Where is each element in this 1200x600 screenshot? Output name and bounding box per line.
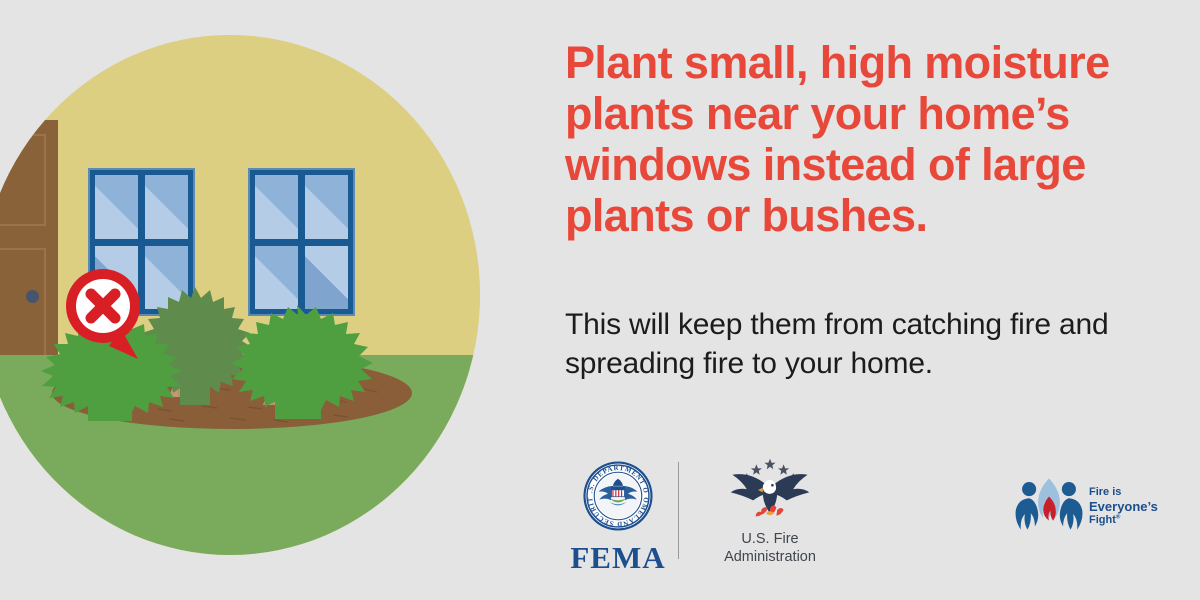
bush-right [215, 303, 380, 419]
door-panel-top [0, 134, 46, 226]
usfa-eagle-icon [705, 457, 835, 528]
feef-line-3-text: Fight [1089, 514, 1116, 526]
window-pane [305, 175, 348, 239]
logo-divider [678, 462, 679, 559]
window-pane [255, 246, 298, 310]
logo-row: U.S. DEPARTMENT OF HOMELAND SECURITY [565, 455, 1185, 575]
usfa-line-1: U.S. Fire [705, 530, 835, 548]
headline: Plant small, high moisture plants near y… [565, 38, 1165, 241]
window-pane [95, 175, 138, 239]
subheadline: This will keep them from catching fire a… [565, 305, 1165, 383]
usfa-line-2: Administration [705, 548, 835, 566]
window-pane [305, 246, 348, 310]
window-pane [145, 175, 188, 239]
feef-line-2: Everyone’s [1089, 499, 1158, 514]
two-figures-flame-icon [1013, 475, 1085, 538]
fema-logo: U.S. DEPARTMENT OF HOMELAND SECURITY [553, 460, 683, 576]
fire-is-everyones-fight-logo: Fire is Everyone’s Fight® [1013, 475, 1163, 538]
feef-line-1: Fire is [1089, 486, 1158, 499]
red-x-warning-marker [64, 267, 152, 365]
usfa-wordmark: U.S. Fire Administration [705, 530, 835, 566]
window-pane [255, 175, 298, 239]
door-knob [26, 290, 39, 303]
window-right-panes [255, 175, 348, 309]
feef-line-3: Fight® [1089, 514, 1158, 527]
feef-wordmark: Fire is Everyone’s Fight® [1089, 486, 1158, 527]
dhs-seal-icon: U.S. DEPARTMENT OF HOMELAND SECURITY [553, 460, 683, 537]
content-column: Plant small, high moisture plants near y… [565, 0, 1185, 600]
usfa-logo: U.S. Fire Administration [705, 457, 835, 566]
fire-safety-poster: Plant small, high moisture plants near y… [0, 0, 1200, 600]
illustration-circle [0, 35, 480, 555]
window-right [248, 168, 355, 316]
fema-wordmark: FEMA [553, 540, 683, 576]
feef-trademark: ® [1116, 515, 1120, 521]
